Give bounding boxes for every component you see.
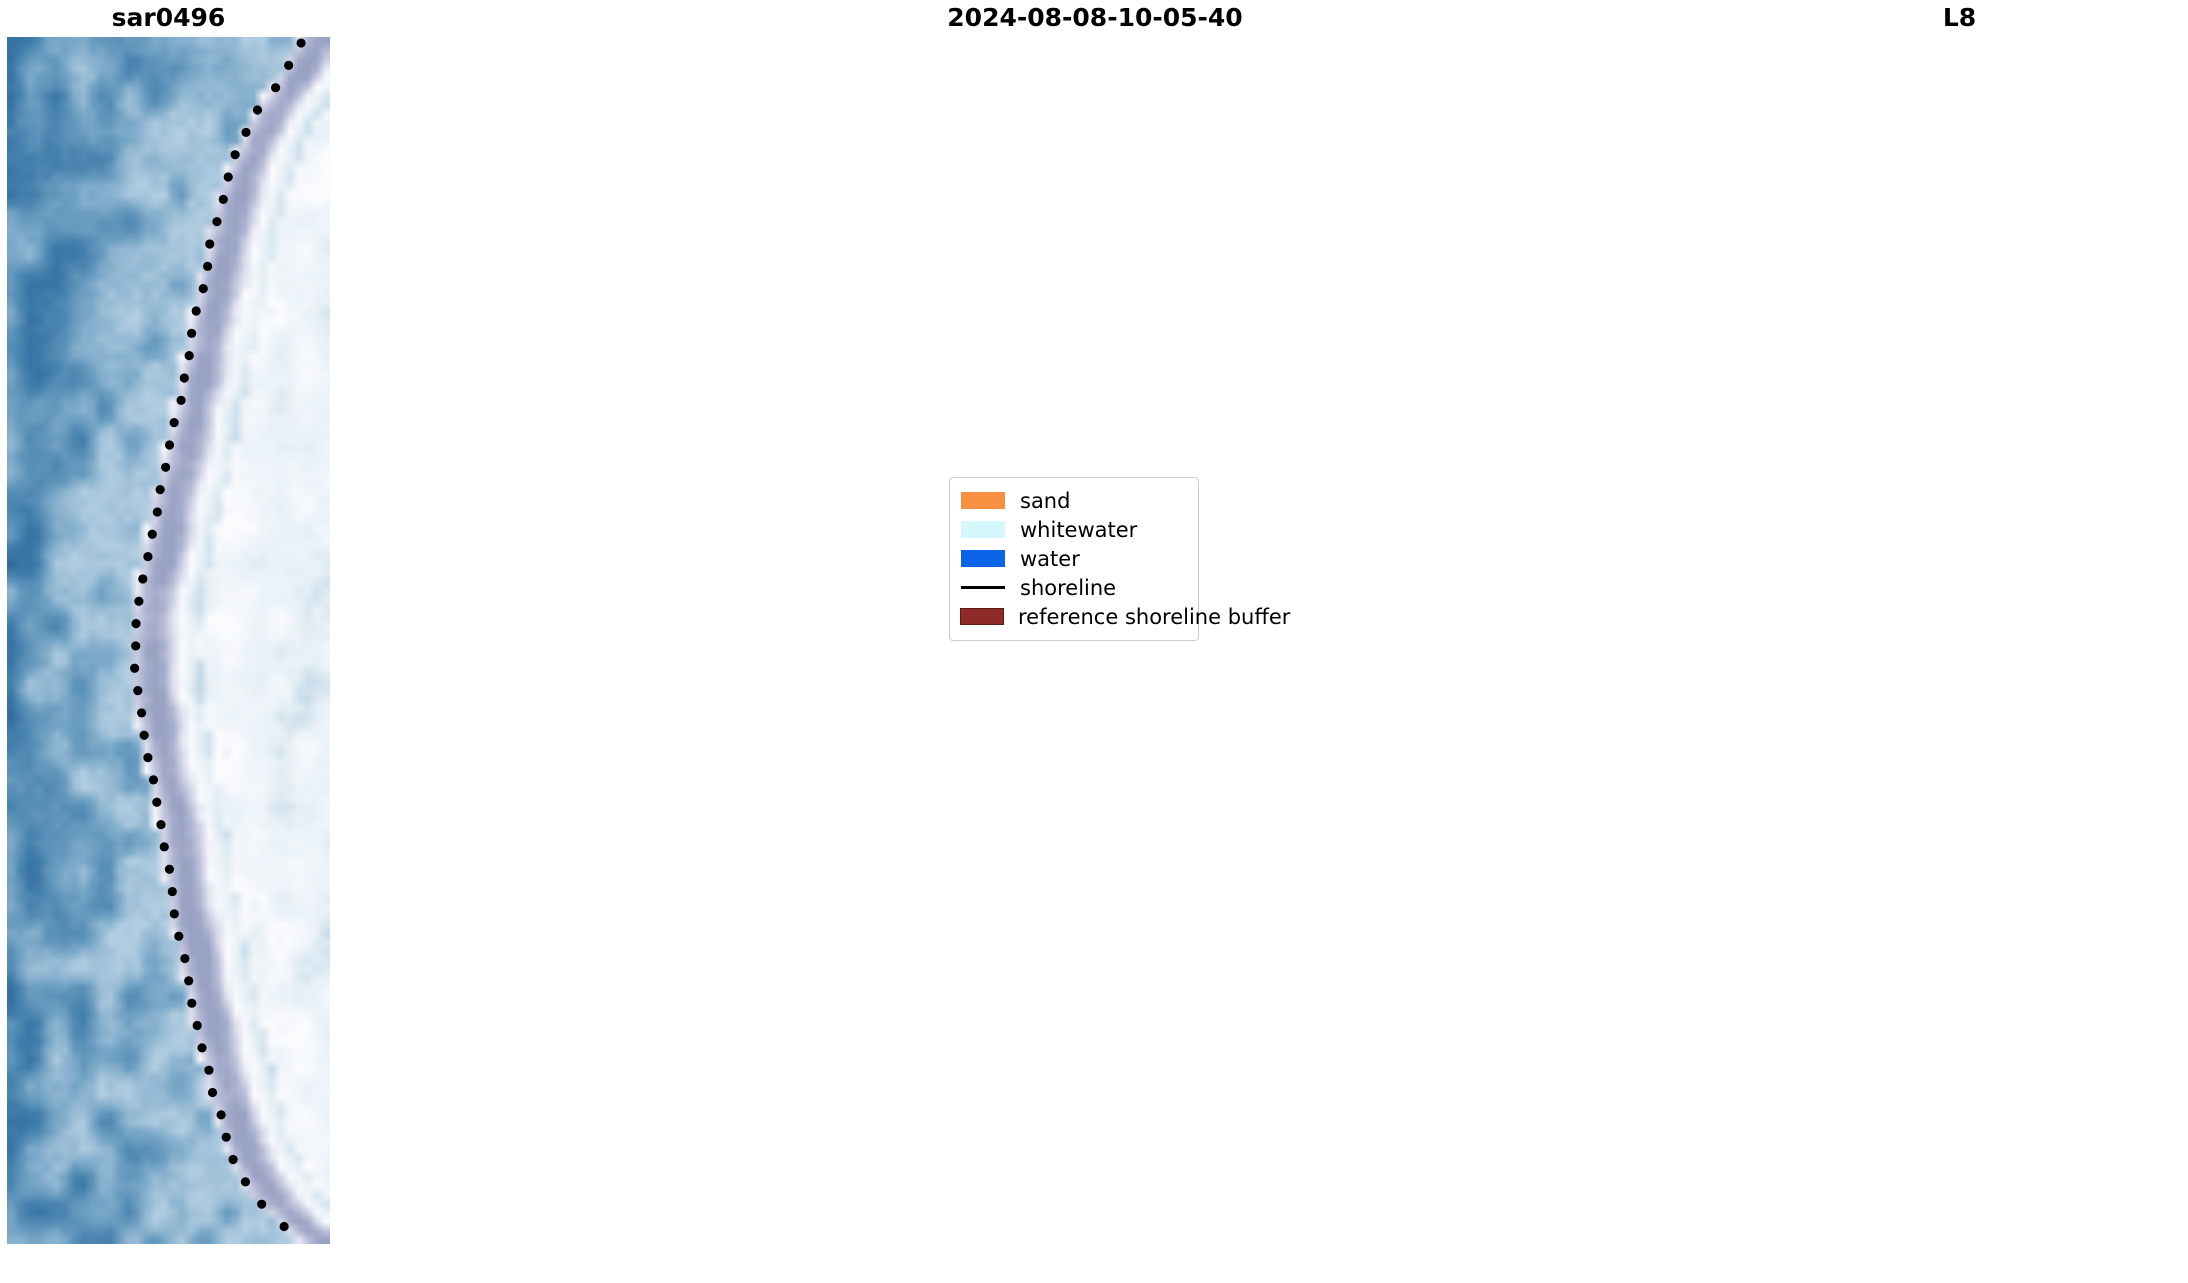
- legend-swatch-water: [960, 550, 1006, 567]
- legend-label-reference-shoreline-buffer: reference shoreline buffer: [1018, 605, 1290, 629]
- panel-sar-image[interactable]: [7, 37, 330, 1244]
- legend: sand whitewater water shoreline referenc…: [949, 477, 1199, 641]
- legend-item-shoreline[interactable]: shoreline: [960, 573, 1188, 602]
- legend-swatch-sand: [960, 492, 1006, 509]
- legend-swatch-whitewater: [960, 521, 1006, 538]
- legend-swatch-shoreline: [960, 586, 1006, 589]
- panel-l8-image[interactable]: [1731, 37, 2188, 1244]
- panel-sar: sar0496: [7, 0, 330, 1244]
- legend-label-shoreline: shoreline: [1020, 576, 1116, 600]
- panel-l8: L8: [1731, 0, 2188, 1244]
- legend-label-whitewater: whitewater: [1020, 518, 1137, 542]
- panel-sar-title: sar0496: [7, 0, 330, 36]
- legend-item-sand[interactable]: sand: [960, 486, 1188, 515]
- panel-l8-title: L8: [1731, 0, 2188, 36]
- legend-item-whitewater[interactable]: whitewater: [960, 515, 1188, 544]
- figure-canvas: sar0496 2024-08-08-10-05-40 L8 sand: [0, 0, 2188, 1283]
- legend-item-reference-shoreline-buffer[interactable]: reference shoreline buffer: [960, 602, 1188, 631]
- legend-label-water: water: [1020, 547, 1080, 571]
- legend-swatch-reference-shoreline-buffer: [960, 608, 1004, 625]
- legend-label-sand: sand: [1020, 489, 1070, 513]
- legend-item-water[interactable]: water: [960, 544, 1188, 573]
- panel-rgb-title: 2024-08-08-10-05-40: [873, 0, 1317, 36]
